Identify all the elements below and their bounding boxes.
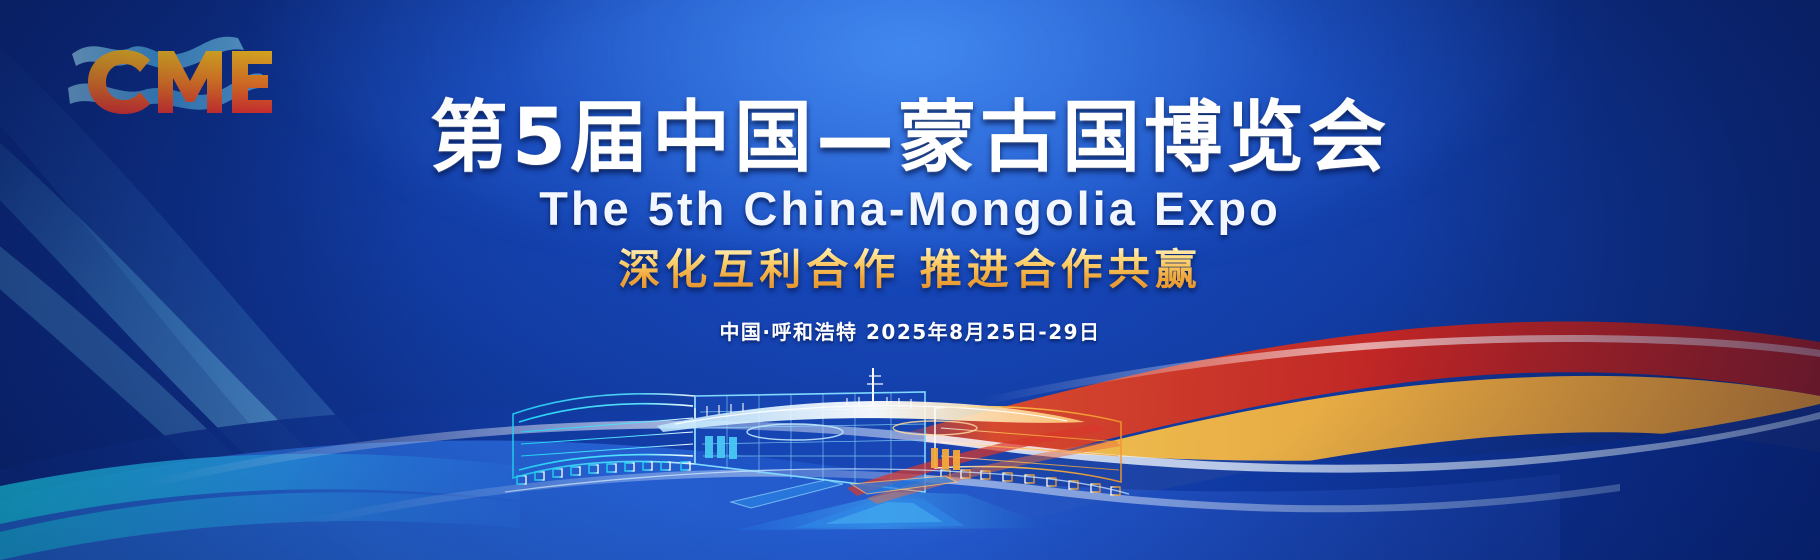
- title-english: The 5th China-Mongolia Expo: [0, 182, 1820, 236]
- white-arc-1: [140, 412, 1820, 489]
- plaza: [735, 492, 1055, 530]
- slogan: 深化互利合作 推进合作共赢: [0, 244, 1820, 296]
- right-colonnade: [931, 392, 1121, 495]
- red-ribbon: [760, 321, 1820, 512]
- central-hall: [695, 392, 925, 492]
- location-date: 中国·呼和浩特 2025年8月25日-29日: [0, 318, 1820, 346]
- white-arc-2: [300, 469, 1620, 527]
- cyan-ribbon: [0, 454, 520, 524]
- convention-center-wireframe: [495, 352, 1135, 542]
- cyan-ribbon-2: [0, 492, 520, 560]
- gold-ribbon: [820, 376, 1820, 556]
- expo-banner: 第5届中国—蒙古国博览会 The 5th China-Mongolia Expo…: [0, 0, 1820, 560]
- left-colonnade: [513, 380, 695, 484]
- banner-text-block: 第5届中国—蒙古国博览会 The 5th China-Mongolia Expo…: [0, 96, 1820, 346]
- right-lit-windows: [931, 448, 960, 470]
- lit-windows: [705, 436, 737, 459]
- plaza-inner: [795, 498, 965, 528]
- title-chinese: 第5届中国—蒙古国博览会: [0, 96, 1820, 180]
- low-pavilions: [731, 476, 957, 508]
- plaza-core: [825, 502, 943, 524]
- roof: [657, 368, 1085, 440]
- ground-line: [505, 469, 1129, 494]
- deep-blue-ribbon: [0, 404, 1820, 560]
- red-light-streaks: [847, 424, 1121, 504]
- mid-blue-ribbon: [0, 440, 1560, 560]
